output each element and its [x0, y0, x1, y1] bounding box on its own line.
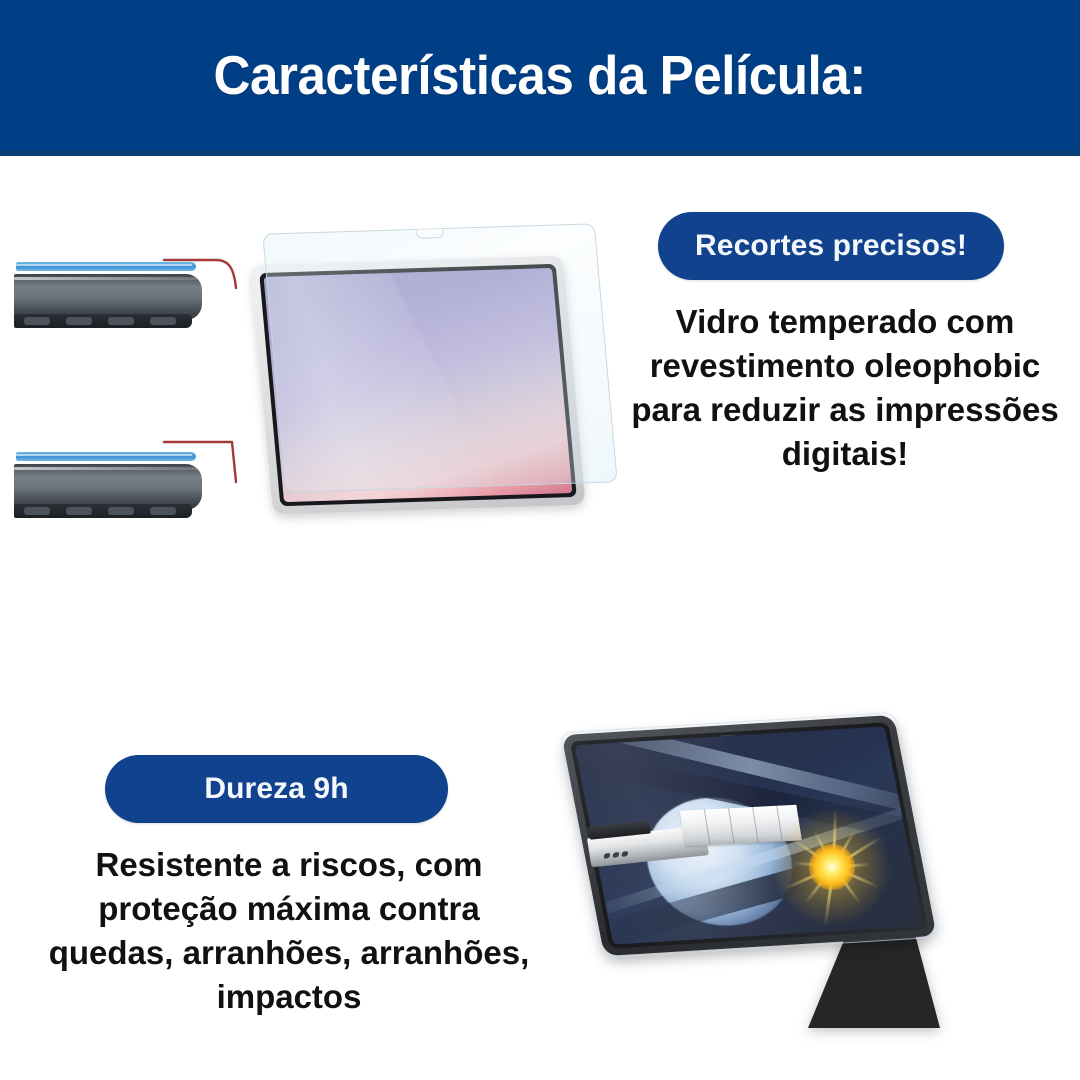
tablet-edge-base [14, 504, 192, 518]
leader-line-straight-icon [162, 438, 242, 490]
feature-line: proteção máxima contra [25, 887, 553, 931]
feature-description-dureza: Resistente a riscos, com proteção máxima… [25, 843, 553, 1019]
tablet-knife-scratch-test [570, 715, 1020, 1045]
tablet-edge-cross-section-bottom [14, 452, 214, 522]
feature-line: impactos [25, 975, 553, 1019]
tablet-edge-base [14, 314, 192, 328]
tablet-with-screen-protector [240, 228, 620, 538]
feature-line: para reduzir as impressões [615, 388, 1075, 432]
feature-line: Resistente a riscos, com [25, 843, 553, 887]
feature-line: digitais! [615, 432, 1075, 476]
feature-line: Vidro temperado com [615, 300, 1075, 344]
badge-label: Recortes precisos! [695, 229, 967, 263]
feature-description-recortes: Vidro temperado com revestimento oleopho… [615, 300, 1075, 476]
header-banner: Características da Película: [0, 0, 1080, 150]
knife-blade [680, 805, 802, 847]
badge-recortes-precisos: Recortes precisos! [658, 212, 1004, 280]
page-title: Características da Película: [214, 43, 866, 107]
tablet-edge-cross-section-top [14, 262, 214, 332]
knife-grip-dots-icon [602, 843, 632, 864]
banner-underline-divider [0, 150, 1080, 156]
badge-dureza-9h: Dureza 9h [105, 755, 448, 823]
leader-line-curved-icon [162, 254, 242, 302]
promo-infographic: Características da Película: [0, 0, 1080, 1080]
feature-line: revestimento oleophobic [615, 344, 1075, 388]
screen-protector-sheet [262, 223, 617, 492]
badge-label: Dureza 9h [204, 772, 348, 806]
camera-cutout-notch-icon [415, 228, 444, 239]
feature-line: quedas, arranhões, arranhões, [25, 931, 553, 975]
